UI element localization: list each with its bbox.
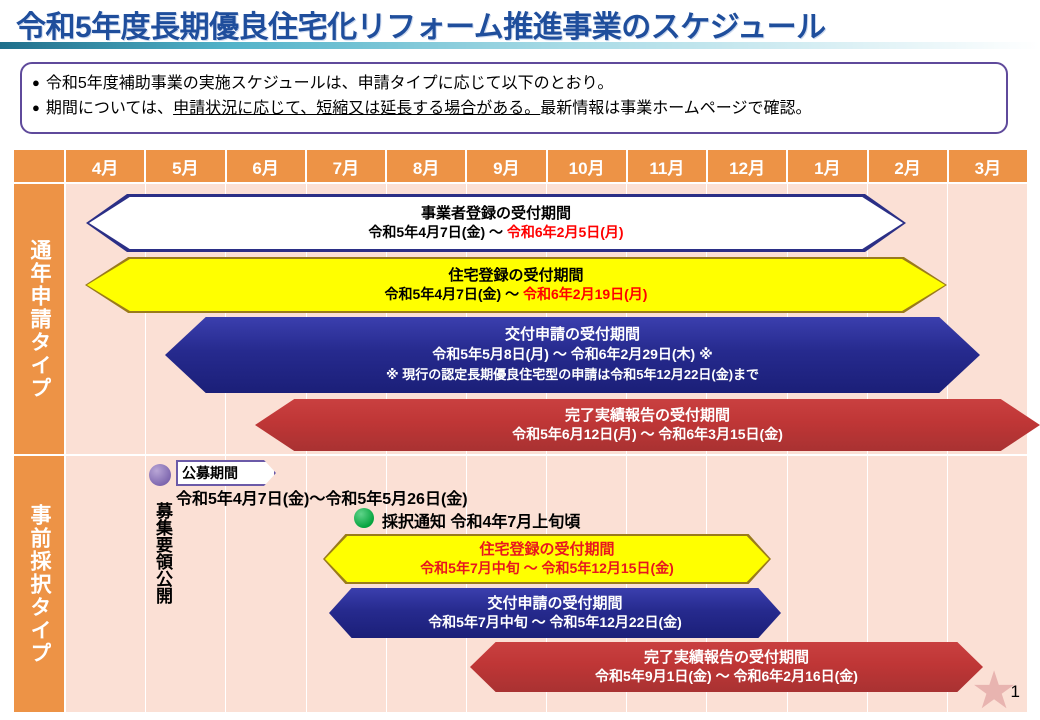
month-header-row: 4月 5月 6月 7月 8月 9月 10月 11月 12月 1月 2月 3月 bbox=[14, 150, 1027, 182]
page-title: 令和5年度長期優良住宅化リフォーム推進事業のスケジュール bbox=[16, 2, 826, 46]
koubo-marker-dot-icon bbox=[149, 464, 171, 486]
bar-dates: 令和5年6月12日(月) ～ 令和6年3月15日(金) bbox=[512, 425, 783, 443]
bar-jutaku-touroku-2[interactable]: 住宅登録の受付期間 令和5年7月中旬 ～ 令和5年12月15日(金) bbox=[325, 536, 769, 582]
saitaku-notice-text: 採択通知 令和4年7月上旬頃 bbox=[382, 508, 580, 532]
month-cell-9: 9月 bbox=[467, 150, 547, 182]
month-cell-12: 12月 bbox=[708, 150, 788, 182]
bar-dates: 令和5年9月1日(金) ～ 令和6年2月16日(金) bbox=[595, 667, 858, 685]
schedule-grid: 4月 5月 6月 7月 8月 9月 10月 11月 12月 1月 2月 3月 通… bbox=[14, 150, 1027, 712]
page-number: 1 bbox=[1011, 682, 1020, 702]
section-jizen-body: 公募期間 令和5年4月7日(金)～令和5年5月26日(金) 募集要領公開 採択通… bbox=[66, 456, 1027, 712]
bar-dates: 令和5年5月8日(月) ～ 令和6年2月29日(木) ※ bbox=[432, 345, 712, 363]
bullet-icon: ● bbox=[32, 98, 40, 118]
bar-note: ※ 現行の認定長期優良住宅型の申請は令和5年12月22日(金)まで bbox=[386, 367, 759, 384]
bar-dates-highlight: 令和6年2月5日(月) bbox=[507, 224, 624, 240]
bar-title: 完了実績報告の受付期間 bbox=[565, 407, 730, 426]
month-cell-7: 7月 bbox=[307, 150, 387, 182]
note-line-2-underlined: 申請状況に応じて、短縮又は延長する場合がある。 bbox=[173, 98, 540, 120]
bar-jutaku-touroku[interactable]: 住宅登録の受付期間 令和5年4月7日(金) ～ 令和6年2月19日(月) bbox=[87, 259, 945, 311]
section-label-tsunen: 通年申請タイプ bbox=[14, 184, 66, 454]
month-cell-3: 3月 bbox=[949, 150, 1027, 182]
title-divider bbox=[0, 42, 1040, 49]
note-line-1: ● 令和5年度補助事業の実施スケジュールは、申請タイプに応じて以下のとおり。 bbox=[32, 73, 996, 95]
month-cell-11: 11月 bbox=[628, 150, 708, 182]
month-cell-6: 6月 bbox=[227, 150, 307, 182]
bar-dates-plain: 令和5年4月7日(金) ～ bbox=[385, 286, 523, 302]
gridline bbox=[66, 456, 146, 712]
bar-title: 完了実績報告の受付期間 bbox=[644, 649, 809, 668]
section-tsunen: 通年申請タイプ 事業者登録の受付期間 令和5年4月7日(金) ～ 令和6年2月5… bbox=[14, 184, 1027, 454]
month-cell-4: 4月 bbox=[66, 150, 146, 182]
bar-title: 住宅登録の受付期間 bbox=[479, 541, 614, 560]
section-tsunen-body: 事業者登録の受付期間 令和5年4月7日(金) ～ 令和6年2月5日(月) 住宅登… bbox=[66, 184, 1027, 454]
bar-koufu-shinsei-2[interactable]: 交付申請の受付期間 令和5年7月中旬 ～ 令和5年12月22日(金) bbox=[329, 588, 781, 638]
bar-dates-plain: 令和5年4月7日(金) ～ bbox=[368, 224, 506, 240]
note-line-1-text: 令和5年度補助事業の実施スケジュールは、申請タイプに応じて以下のとおり。 bbox=[46, 73, 613, 95]
note-line-2: ● 期間については、申請状況に応じて、短縮又は延長する場合がある。最新情報は事業… bbox=[32, 98, 996, 120]
month-cell-8: 8月 bbox=[387, 150, 467, 182]
bar-title: 事業者登録の受付期間 bbox=[421, 205, 571, 224]
bar-title: 住宅登録の受付期間 bbox=[448, 267, 583, 286]
note-line-2-prefix: 期間については、 bbox=[46, 98, 173, 120]
bar-dates: 令和5年4月7日(金) ～ 令和6年2月5日(月) bbox=[368, 223, 623, 241]
bar-title: 交付申請の受付期間 bbox=[487, 595, 622, 614]
bullet-icon: ● bbox=[32, 73, 40, 93]
month-cell-2: 2月 bbox=[869, 150, 949, 182]
note-line-2-suffix: 最新情報は事業ホームページで確認。 bbox=[540, 98, 811, 120]
koubo-callout-label: 公募期間 bbox=[182, 463, 238, 483]
note-box: ● 令和5年度補助事業の実施スケジュールは、申請タイプに応じて以下のとおり。 ●… bbox=[20, 62, 1008, 134]
title-bar: 令和5年度長期優良住宅化リフォーム推進事業のスケジュール bbox=[0, 0, 1040, 52]
bosyu-youryou-vertical-note: 募集要領公開 bbox=[150, 502, 175, 604]
bar-koufu-shinsei[interactable]: 交付申請の受付期間 令和5年5月8日(月) ～ 令和6年2月29日(木) ※ ※… bbox=[165, 317, 980, 393]
month-cell-1: 1月 bbox=[788, 150, 868, 182]
month-cell-10: 10月 bbox=[548, 150, 628, 182]
bar-kanryo-jisseki[interactable]: 完了実績報告の受付期間 令和5年6月12日(月) ～ 令和6年3月15日(金) bbox=[255, 399, 1040, 451]
bar-dates: 令和5年7月中旬 ～ 令和5年12月15日(金) bbox=[420, 559, 674, 577]
saitaku-marker-dot-icon bbox=[354, 508, 374, 528]
month-header-spacer bbox=[14, 150, 66, 182]
bar-title: 交付申請の受付期間 bbox=[505, 326, 640, 345]
bar-dates-highlight: 令和6年2月19日(月) bbox=[523, 286, 647, 302]
bar-dates: 令和5年4月7日(金) ～ 令和6年2月19日(月) bbox=[385, 285, 648, 303]
koubo-callout-dates: 令和5年4月7日(金)～令和5年5月26日(金) bbox=[176, 485, 468, 509]
bar-jigyosha-touroku[interactable]: 事業者登録の受付期間 令和5年4月7日(金) ～ 令和6年2月5日(月) bbox=[89, 197, 903, 249]
section-jizen: 事前採択タイプ 公募期間 令和5年4月7日(金)～令和5年5月26日(金) 募集… bbox=[14, 456, 1027, 712]
section-label-jizen: 事前採択タイプ bbox=[14, 456, 66, 712]
bar-kanryo-jisseki-2[interactable]: 完了実績報告の受付期間 令和5年9月1日(金) ～ 令和6年2月16日(金) bbox=[470, 642, 983, 692]
bar-dates: 令和5年7月中旬 ～ 令和5年12月22日(金) bbox=[428, 613, 682, 631]
month-cell-5: 5月 bbox=[146, 150, 226, 182]
